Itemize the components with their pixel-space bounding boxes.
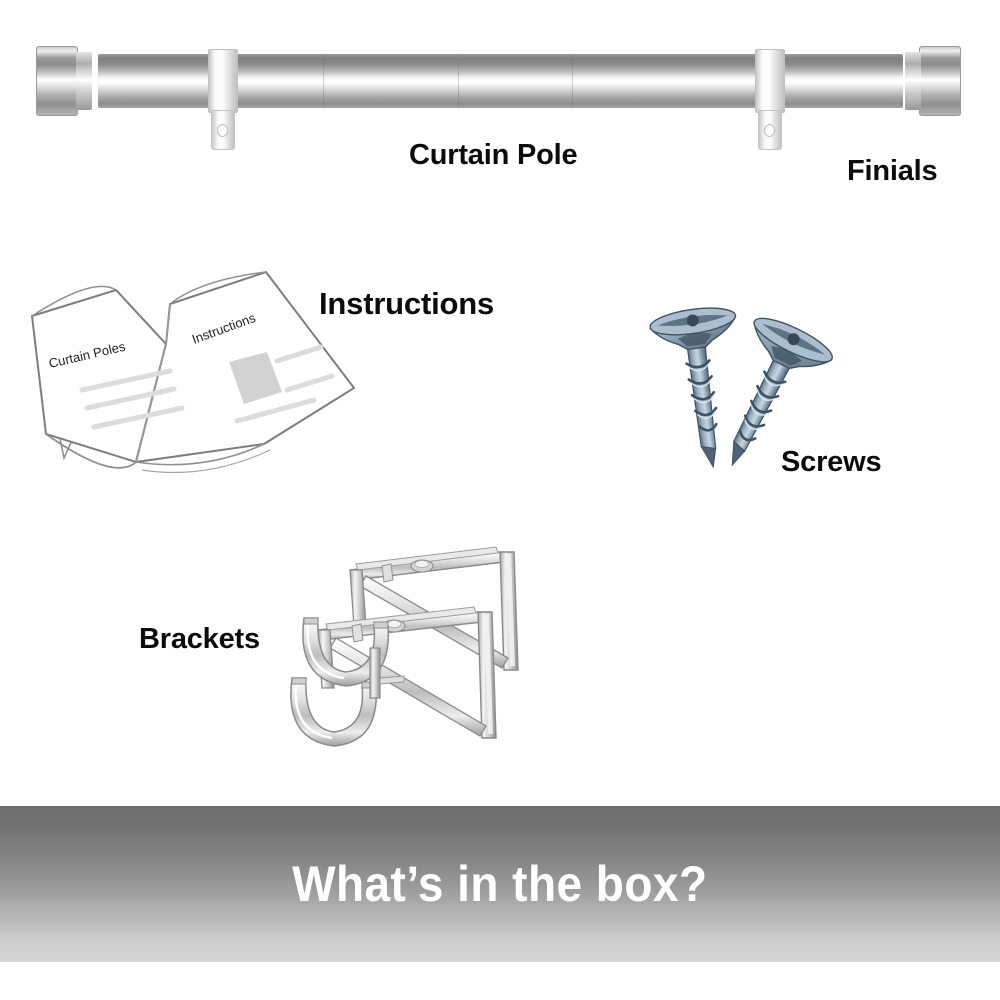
bracket-collar-right [755,49,785,113]
finial-right-neck [905,52,921,110]
bracket-collar-left [208,49,238,113]
bracket-rear-cradle-rim-left [304,618,318,624]
bracket-front-cradle-stem [370,648,380,698]
bracket-front-cradle-rim-left [292,678,306,684]
bracket-front-set-screw [352,624,363,642]
finial-left-neck [76,52,92,110]
finial-left [36,46,78,116]
bracket-rear-set-screw [382,564,393,582]
label-curtain-pole: Curtain Pole [409,139,577,172]
finial-right [919,46,961,116]
brackets-illustration [290,530,630,770]
curtain-pole-illustration [36,44,961,144]
label-finials: Finials [847,155,937,188]
screw-2-shank [729,357,791,458]
whats-in-the-box-diagram: Curtain Pole Finials Curtain Poles [0,0,1000,1000]
bracket-rear-boss-top [415,561,429,568]
bottom-banner: What’s in the box? [0,806,1000,962]
bracket-rear-cradle-rim-right [374,622,388,628]
bracket-front-cradle-pin [380,676,404,684]
bracket-front-boss-top [387,621,401,628]
pole-seam-3 [572,54,573,108]
screw-1-tip [701,445,718,469]
pole-seam-2 [458,54,459,108]
bracket-collar-right-hole [764,124,775,137]
pole-seam-1 [323,54,324,108]
label-screws: Screws [781,446,881,479]
label-instructions: Instructions [319,286,494,322]
label-brackets: Brackets [139,623,260,656]
bracket-collar-left-hole [217,124,228,137]
banner-title: What’s in the box? [292,855,707,913]
bracket-front-diagonal-brace [330,638,486,736]
